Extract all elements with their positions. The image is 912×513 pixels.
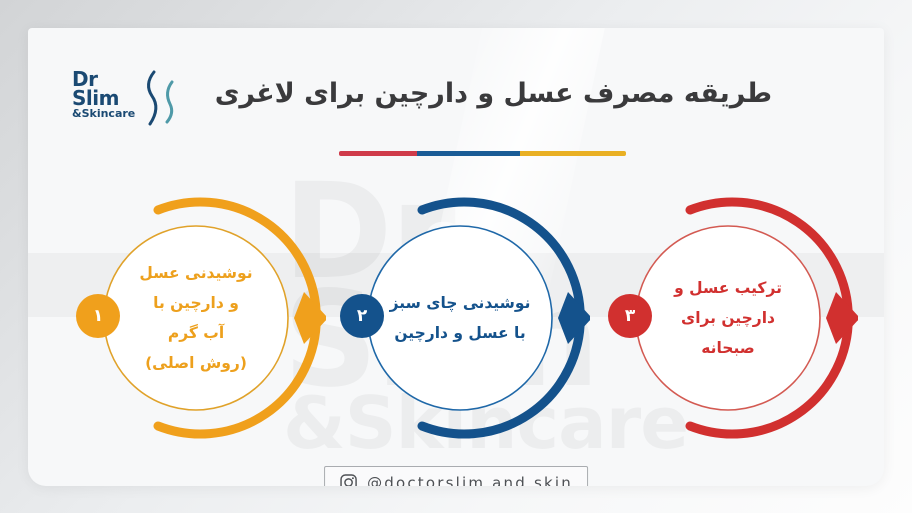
infographic-canvas: Dr Slim &Skincare Dr Slim &Skincare طریق…	[0, 0, 912, 513]
step-card-1[interactable]: نوشیدنی عسل و دارچین با آب گرم (روش اصلی…	[66, 188, 326, 448]
step-3-number-badge: ۳	[608, 294, 652, 338]
step-1-label: نوشیدنی عسل و دارچین با آب گرم (روش اصلی…	[96, 238, 296, 398]
divider-bar	[339, 151, 626, 156]
brand-logo: Dr Slim &Skincare	[72, 68, 182, 134]
divider-segment-blue	[417, 151, 520, 156]
step-2-number-badge: ۲	[340, 294, 384, 338]
step-card-2[interactable]: نوشیدنی چای سبز با عسل و دارچین ۲	[330, 188, 590, 448]
content-card: Dr Slim &Skincare Dr Slim &Skincare طریق…	[28, 28, 884, 486]
step-3-label: ترکیب عسل و دارچین برای صبحانه	[628, 238, 828, 398]
step-1-number-badge: ۱	[76, 294, 120, 338]
page-title: طریقه مصرف عسل و دارچین برای لاغری	[215, 78, 772, 109]
instagram-handle-text: @doctorslim.and.skin	[367, 474, 573, 487]
divider-segment-red	[339, 151, 416, 156]
step-card-3[interactable]: ترکیب عسل و دارچین برای صبحانه ۳	[598, 188, 858, 448]
step-2-label: نوشیدنی چای سبز با عسل و دارچین	[360, 238, 560, 398]
instagram-handle-box[interactable]: @doctorslim.and.skin	[324, 466, 588, 486]
instagram-icon	[339, 473, 358, 486]
divider-segment-yellow	[520, 151, 626, 156]
body-curve-icon	[124, 68, 184, 134]
